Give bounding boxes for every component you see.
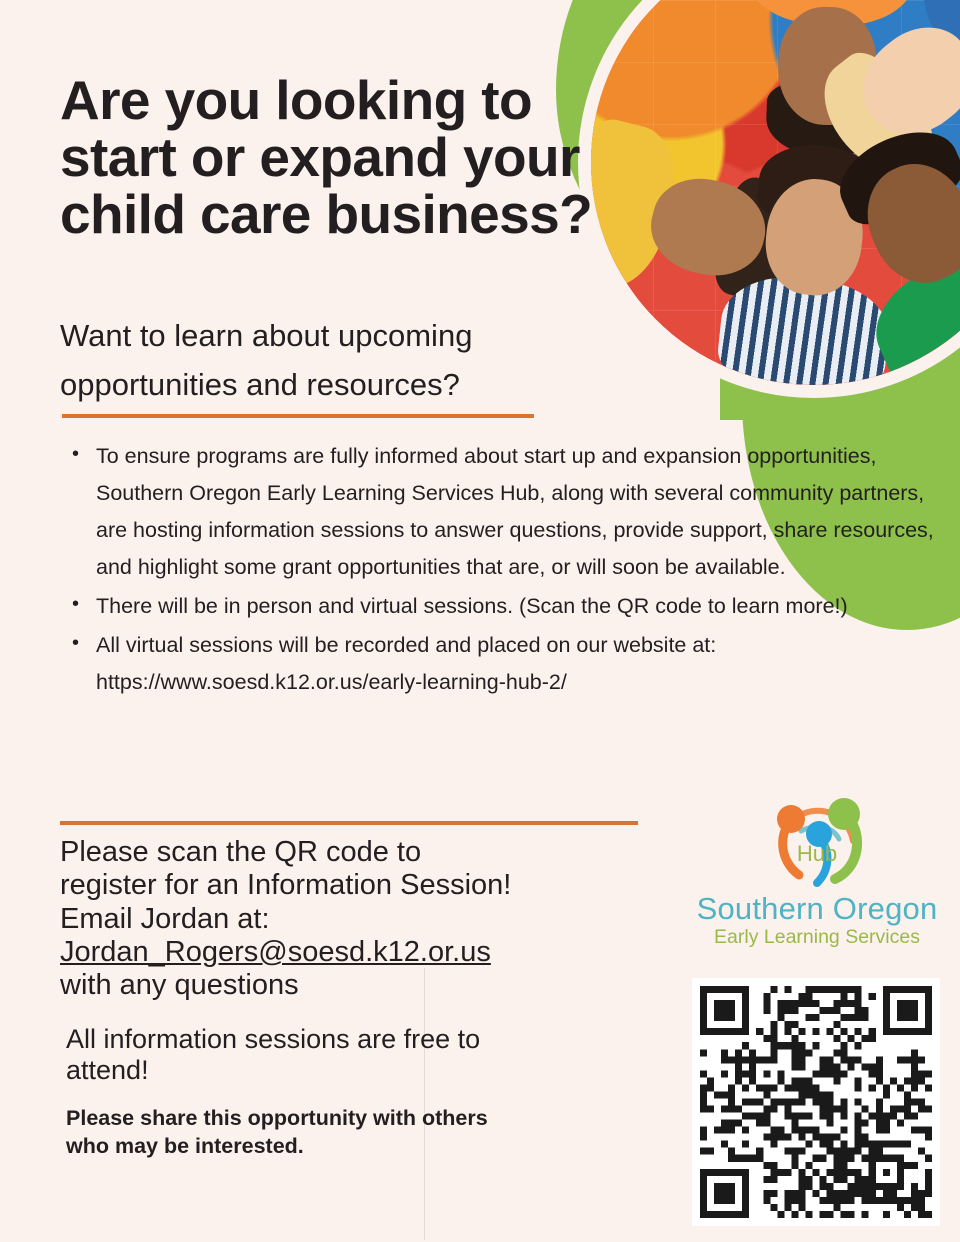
free-note-line-1: All information sessions are free to <box>66 1024 626 1055</box>
hub-logo-icon: Hub <box>765 795 869 891</box>
hero-photo-image <box>591 0 960 385</box>
bullet-item: All virtual sessions will be recorded an… <box>96 627 934 701</box>
divider-rule-bottom <box>60 821 638 825</box>
cta-line-5: with any questions <box>60 969 640 1002</box>
bullet-item: There will be in person and virtual sess… <box>96 588 934 625</box>
faint-vertical-divider <box>424 968 425 1240</box>
divider-rule-top <box>62 414 534 418</box>
logo-organization-name: Southern Oregon <box>688 893 946 925</box>
share-note-line-1: Please share this opportunity with other… <box>66 1105 646 1133</box>
organization-logo: Hub Southern Oregon Early Learning Servi… <box>688 795 946 948</box>
cta-block: Please scan the QR code to register for … <box>60 836 640 1003</box>
logo-tagline: Early Learning Services <box>688 927 946 948</box>
cta-line-3: Email Jordan at: <box>60 903 640 936</box>
free-attendance-note: All information sessions are free to att… <box>66 1024 626 1086</box>
cta-line-2: register for an Information Session! <box>60 869 640 902</box>
flyer-page: Are you looking to start or expand your … <box>0 0 960 1242</box>
headline: Are you looking to start or expand your … <box>60 72 605 244</box>
bullet-list: To ensure programs are fully informed ab… <box>62 438 934 703</box>
share-opportunity-note: Please share this opportunity with other… <box>66 1105 646 1160</box>
free-note-line-2: attend! <box>66 1055 626 1086</box>
contact-email-link[interactable]: Jordan_Rogers@soesd.k12.or.us <box>60 936 491 969</box>
qr-code[interactable] <box>692 978 940 1226</box>
svg-text:Hub: Hub <box>797 841 837 866</box>
bullet-item: To ensure programs are fully informed ab… <box>96 438 934 586</box>
qr-code-graphic <box>700 986 932 1218</box>
hero-photo-circle <box>578 0 960 398</box>
subheadline: Want to learn about upcoming opportuniti… <box>60 312 620 410</box>
cta-line-1: Please scan the QR code to <box>60 836 640 869</box>
share-note-line-2: who may be interested. <box>66 1133 646 1161</box>
